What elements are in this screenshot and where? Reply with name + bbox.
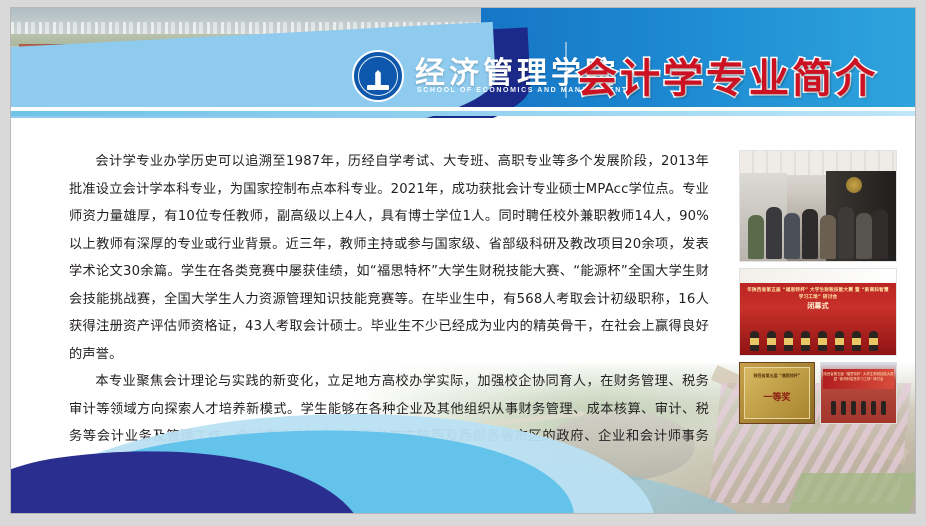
photo-column: 年陕西省第五届 “福思特杯” 大学生财税技能大赛 暨 “新商科智慧学习工场” 研… <box>739 150 897 424</box>
body-text: 会计学专业办学历史可以追溯至1987年，历经自学考试、大专班、高职专业等多个发展… <box>69 148 709 478</box>
person <box>838 207 854 259</box>
person <box>871 401 876 415</box>
person <box>766 207 782 259</box>
person <box>748 215 764 259</box>
poster-inner-canvas: 经济管理学院 SCHOOL OF ECONOMICS AND MANAGEMEN… <box>10 7 916 514</box>
person <box>831 401 836 415</box>
poster-body: 会计学专业办学历史可以追溯至1987年，历经自学考试、大专班、高职专业等多个发展… <box>11 118 915 513</box>
person <box>802 209 818 259</box>
certificate-award-label: 一等奖 <box>740 390 814 403</box>
certificate-line-1: 陕西省第五届 “福思特杯” <box>754 373 801 378</box>
certificate <box>767 338 776 345</box>
person <box>851 401 856 415</box>
header-vertical-divider <box>565 42 567 98</box>
person <box>861 401 866 415</box>
emblem-badge <box>352 50 404 102</box>
team-banner-text: 陕西省第五届 “福思特杯” 大学生财税技能大赛 暨 “新商科智慧学习工场” 研讨… <box>823 369 894 382</box>
banner-line-1: 年陕西省第五届 “福思特杯” 大学生财税技能大赛 <box>747 288 853 293</box>
team-award-photo: 陕西省第五届 “福思特杯” 大学生财税技能大赛 暨 “新商科智慧学习工场” 研讨… <box>820 362 897 424</box>
certificate <box>818 338 827 345</box>
people-group <box>746 191 890 259</box>
award-ceremony-photo: 年陕西省第五届 “福思特杯” 大学生财税技能大赛 暨 “新商科智慧学习工场” 研… <box>739 268 897 356</box>
certificate <box>784 338 793 345</box>
certificate-subtitle: 陕西省第五届 “福思特杯” <box>740 373 814 379</box>
header-divider-cyan <box>11 111 915 116</box>
ceremony-stage <box>740 327 896 355</box>
paragraph-1: 会计学专业办学历史可以追溯至1987年，历经自学考试、大专班、高职专业等多个发展… <box>69 148 709 368</box>
team-photo-banner: 陕西省第五届 “福思特杯” 大学生财税技能大赛 暨 “新商科智慧学习工场” 研讨… <box>823 369 894 389</box>
person <box>784 213 800 259</box>
person <box>872 209 888 259</box>
photo-row-bottom: 陕西省第五届 “福思特杯” 一等奖 陕西省第五届 “福思特杯” 大学生财税技能大… <box>739 362 897 424</box>
campus-grass <box>789 473 916 513</box>
emblem-base-glyph <box>367 85 389 90</box>
ceremony-top-banner <box>740 269 896 283</box>
page-title: 会计学专业简介 <box>577 46 878 104</box>
person <box>841 401 846 415</box>
ceremony-banner-text: 年陕西省第五届 “福思特杯” 大学生财税技能大赛 暨 “新商科智慧学习工场” 研… <box>746 287 890 310</box>
school-emblem-icon <box>352 50 408 106</box>
person <box>820 215 836 259</box>
person <box>856 213 872 259</box>
paragraph-2: 本专业聚焦会计理论与实践的新变化，立足地方高校办学实际，加强校企协同育人，在财务… <box>69 368 709 478</box>
award-certificate-photo: 陕西省第五届 “福思特杯” 一等奖 <box>739 362 815 424</box>
certificate <box>852 338 861 345</box>
person <box>881 401 886 415</box>
poster-root: 经济管理学院 SCHOOL OF ECONOMICS AND MANAGEMEN… <box>0 0 926 526</box>
poster-header: 经济管理学院 SCHOOL OF ECONOMICS AND MANAGEMEN… <box>11 8 915 118</box>
certificate <box>801 338 810 345</box>
certificate <box>750 338 759 345</box>
faculty-group-photo <box>739 150 897 262</box>
certificate <box>835 338 844 345</box>
certificate <box>869 338 878 345</box>
banner-line-3: 闭幕式 <box>746 303 890 310</box>
